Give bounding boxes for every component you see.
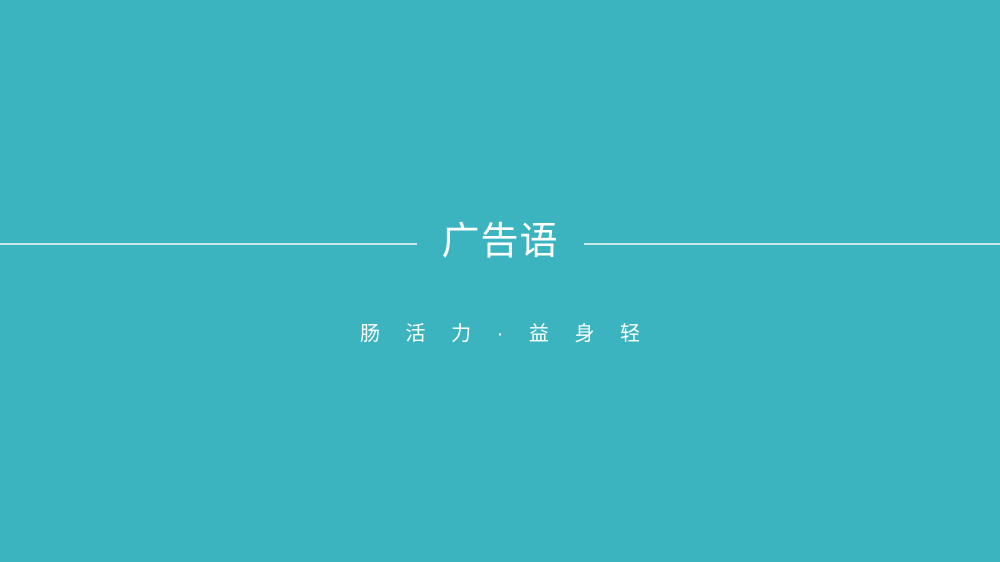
- divider-rule-right: [584, 243, 1000, 245]
- page-title: 广告语: [442, 223, 559, 265]
- title-band: 广告语: [0, 0, 1000, 525]
- slide-canvas: 广告语 肠 活 力 · 益 身 轻: [0, 0, 1000, 562]
- slide-subtitle: 肠 活 力 · 益 身 轻: [350, 322, 650, 346]
- divider-rule-left: [0, 243, 417, 245]
- subtitle-container: 肠 活 力 · 益 身 轻: [0, 322, 1000, 346]
